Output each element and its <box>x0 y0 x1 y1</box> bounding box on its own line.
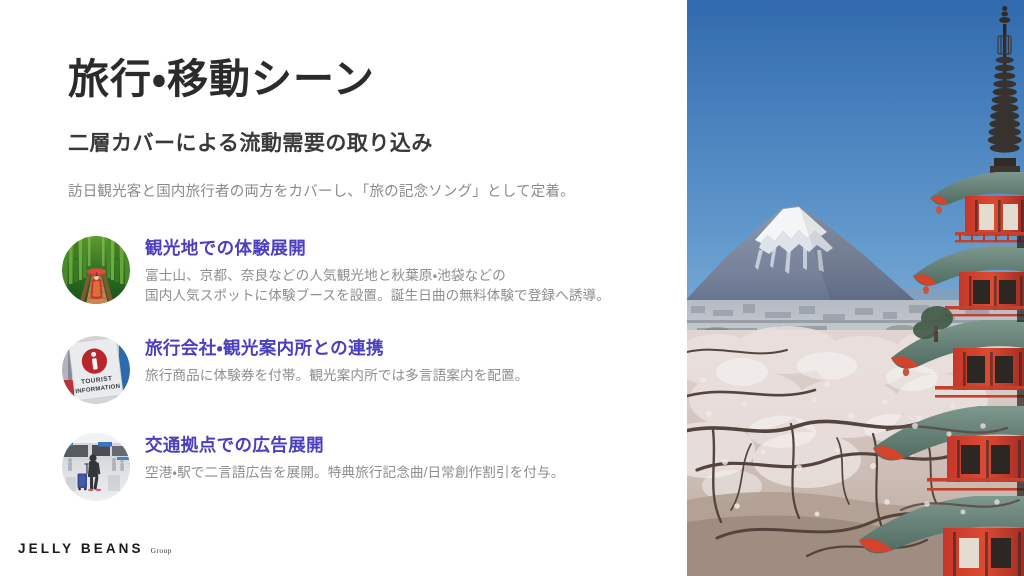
list-item-text: 観光地での体験展開 富士山、京都、奈良などの人気観光地と秋葉原・池袋などの 国内… <box>145 236 610 307</box>
list-item-description: 旅行商品に体験券を付帯。観光案内所では多言語案内を配置。 <box>145 366 528 386</box>
list-item-heading: 交通拠点での広告展開 <box>145 435 564 457</box>
list-item: 観光地での体験展開 富士山、京都、奈良などの人気観光地と秋葉原・池袋などの 国内… <box>62 236 672 307</box>
list-item: 交通拠点での広告展開 空港・駅で二言語広告を展開。特典旅行記念曲/日常創作割引を… <box>62 433 672 501</box>
list-item: TOURIST INFORMATION 旅行会社・観光案内所との連携 旅行商品に… <box>62 336 672 404</box>
slide-root: 旅行・移動シーン 二層カバーによる流動需要の取り込み 訪日観光客と国内旅行者の両… <box>0 0 1024 576</box>
mount-fuji-pagoda-photo <box>687 0 1024 576</box>
bamboo-forest-kimono-thumbnail <box>62 236 130 304</box>
page-title: 旅行・移動シーン <box>68 55 375 104</box>
list-item-description: 富士山、京都、奈良などの人気観光地と秋葉原・池袋などの 国内人気スポットに体験ブ… <box>145 266 610 307</box>
left-content-panel: 旅行・移動シーン 二層カバーによる流動需要の取り込み 訪日観光客と国内旅行者の両… <box>0 0 687 576</box>
brand-logo-name: JELLY BEANS <box>18 541 144 556</box>
page-subtitle: 二層カバーによる流動需要の取り込み <box>68 127 433 157</box>
feature-list: 観光地での体験展開 富士山、京都、奈良などの人気観光地と秋葉原・池袋などの 国内… <box>62 236 672 530</box>
list-item-heading: 観光地での体験展開 <box>145 238 610 260</box>
lead-paragraph: 訪日観光客と国内旅行者の両方をカバーし、「旅の記念ソング」として定着。 <box>68 180 575 201</box>
list-item-text: 交通拠点での広告展開 空港・駅で二言語広告を展開。特典旅行記念曲/日常創作割引を… <box>145 433 564 483</box>
brand-logo-suffix: Group <box>151 546 172 555</box>
airport-terminal-traveler-thumbnail <box>62 433 130 501</box>
list-item-text: 旅行会社・観光案内所との連携 旅行商品に体験券を付帯。観光案内所では多言語案内を… <box>145 336 528 386</box>
brand-logo: JELLY BEANS Group <box>18 541 172 556</box>
list-item-description: 空港・駅で二言語広告を展開。特典旅行記念曲/日常創作割引を付与。 <box>145 463 564 483</box>
list-item-heading: 旅行会社・観光案内所との連携 <box>145 338 528 360</box>
tourist-information-sign-thumbnail: TOURIST INFORMATION <box>62 336 130 404</box>
